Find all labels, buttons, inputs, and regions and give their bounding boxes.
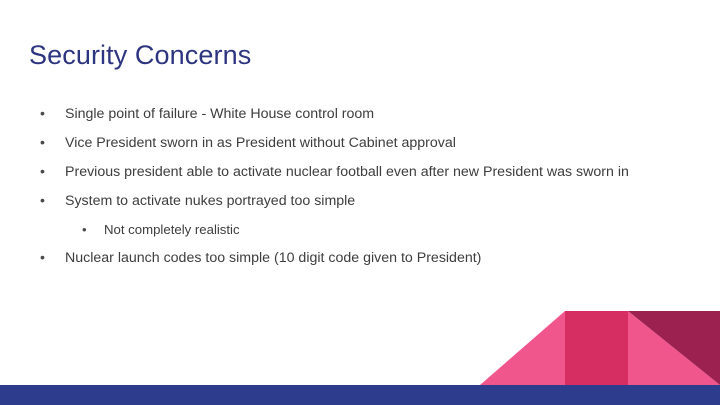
- list-item-text: Previous president able to activate nucl…: [65, 160, 700, 185]
- center-crimson-block: [565, 311, 628, 385]
- list-item: • Previous president able to activate nu…: [40, 160, 700, 185]
- list-item-sub: • Not completely realistic: [40, 218, 700, 241]
- list-item: • Single point of failure - White House …: [40, 102, 700, 127]
- left-pink-triangle: [480, 311, 565, 385]
- slide: Security Concerns • Single point of fail…: [0, 0, 720, 405]
- list-item: • Vice President sworn in as President w…: [40, 131, 700, 156]
- list-item-text: Vice President sworn in as President wit…: [65, 131, 700, 156]
- list-item-text: Not completely realistic: [104, 218, 700, 241]
- bullet-marker-icon: •: [40, 246, 65, 271]
- page-title: Security Concerns: [29, 38, 251, 72]
- right-maroon-triangle: [628, 311, 720, 385]
- list-item-text: Single point of failure - White House co…: [65, 102, 700, 127]
- bullet-marker-icon: •: [40, 102, 65, 127]
- bottom-accent-bar: [0, 385, 720, 405]
- list-item: • Nuclear launch codes too simple (10 di…: [40, 246, 700, 271]
- right-pink-triangle: [628, 311, 720, 385]
- bullet-marker-icon: •: [82, 218, 104, 241]
- bullet-marker-icon: •: [40, 189, 65, 214]
- list-item-text: System to activate nukes portrayed too s…: [65, 189, 700, 214]
- list-item: • System to activate nukes portrayed too…: [40, 189, 700, 214]
- bullet-marker-icon: •: [40, 160, 65, 185]
- bullet-list: • Single point of failure - White House …: [40, 102, 700, 275]
- list-item-text: Nuclear launch codes too simple (10 digi…: [65, 246, 700, 271]
- bullet-marker-icon: •: [40, 131, 65, 156]
